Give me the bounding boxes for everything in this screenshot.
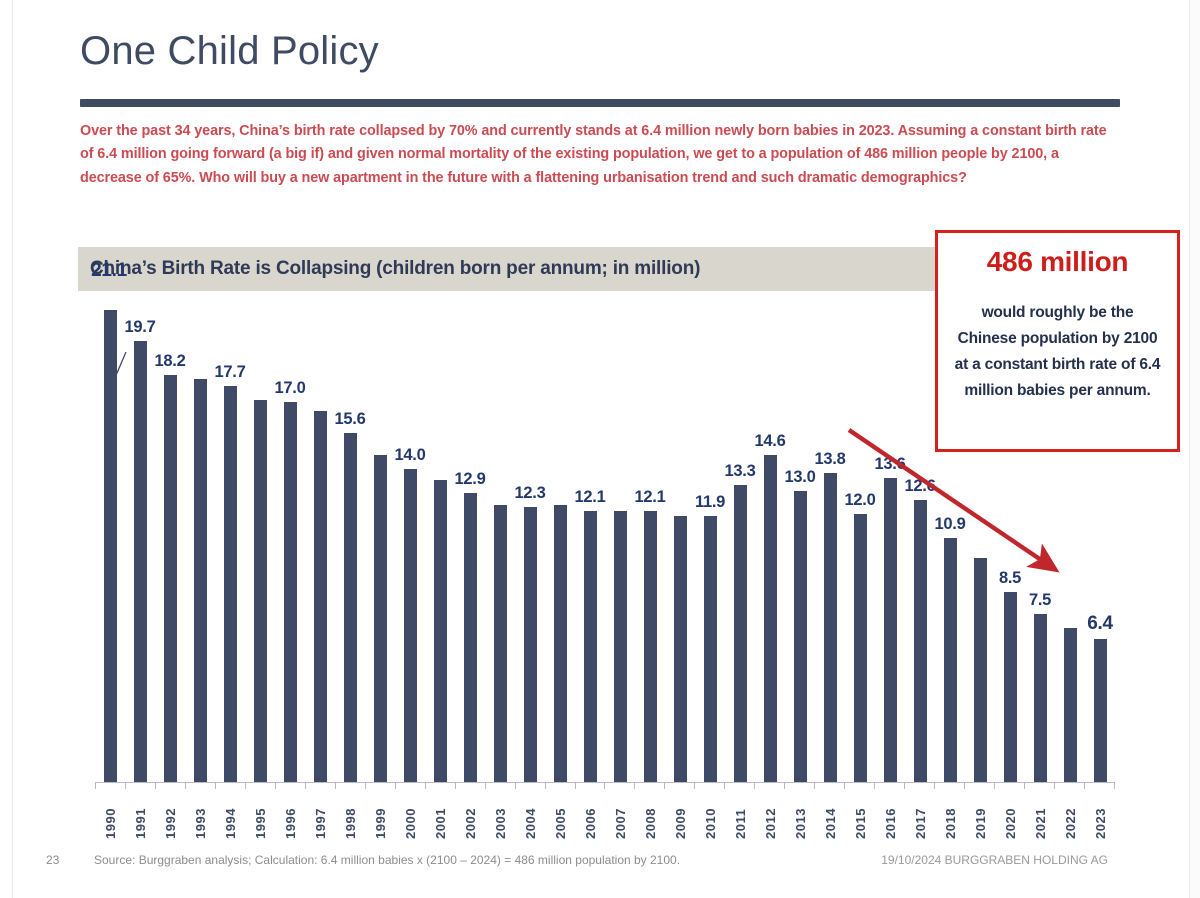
x-tick (814, 782, 844, 789)
slide-left-edge (0, 0, 13, 898)
bar-slot (1055, 310, 1085, 782)
bar-slot: 12.1 (575, 310, 605, 782)
bar-2011: 13.3 (734, 485, 747, 783)
x-label-2007: 2007 (613, 791, 628, 839)
x-tick (844, 782, 874, 789)
x-tick (545, 782, 575, 789)
x-label-2018: 2018 (943, 791, 958, 839)
bar-2003 (494, 505, 507, 782)
x-label-cell: 1994 (215, 791, 245, 839)
bar-slot: 19.7 (125, 310, 155, 782)
x-label-cell: 2004 (515, 791, 545, 839)
x-label-cell: 2022 (1055, 791, 1085, 839)
bar-slot (545, 310, 575, 782)
bar-slot: 12.0 (845, 310, 875, 782)
bar-value-label-2011: 13.3 (725, 462, 756, 481)
x-label-cell: 2015 (845, 791, 875, 839)
footer-date-company: 19/10/2024 BURGGRABEN HOLDING AG (881, 853, 1108, 867)
x-label-2019: 2019 (973, 791, 988, 839)
bar-2002: 12.9 (464, 493, 477, 782)
bar-slot: 12.1 (635, 310, 665, 782)
bar-2012: 14.6 (764, 455, 777, 782)
x-label-2006: 2006 (583, 791, 598, 839)
x-tick (455, 782, 485, 789)
x-tick (904, 782, 934, 789)
bar-slot: 15.6 (335, 310, 365, 782)
bar-1994: 17.7 (224, 386, 237, 782)
bar-slot: 14.0 (395, 310, 425, 782)
bar-value-label-2014: 13.8 (815, 450, 846, 469)
x-tick (335, 782, 365, 789)
bar-value-label-2002: 12.9 (455, 470, 486, 489)
bar-slot: 14.6 (755, 310, 785, 782)
x-tick (245, 782, 275, 789)
x-tick (485, 782, 515, 789)
bar-slot: 17.7 (215, 310, 245, 782)
x-label-cell: 2023 (1085, 791, 1115, 839)
x-axis-ticks (95, 782, 1115, 789)
x-label-1995: 1995 (253, 791, 268, 839)
title-divider (80, 99, 1120, 107)
bar-2022 (1064, 628, 1077, 782)
x-label-1998: 1998 (343, 791, 358, 839)
bar-2017: 12.6 (914, 500, 927, 782)
bar-slot (665, 310, 695, 782)
x-label-2001: 2001 (433, 791, 448, 839)
bar-2000: 14.0 (404, 469, 417, 782)
bar-slot (965, 310, 995, 782)
bar-value-label-1990: 21.1 (91, 260, 127, 282)
x-label-cell: 2016 (875, 791, 905, 839)
x-label-cell: 2000 (395, 791, 425, 839)
x-tick (634, 782, 664, 789)
x-tick (964, 782, 994, 789)
x-tick (994, 782, 1024, 789)
x-label-cell: 1997 (305, 791, 335, 839)
x-label-cell: 2010 (695, 791, 725, 839)
x-label-2004: 2004 (523, 791, 538, 839)
bar-series: 21.119.718.217.717.015.614.012.912.312.1… (95, 310, 1115, 782)
x-label-cell: 2009 (665, 791, 695, 839)
x-tick (724, 782, 754, 789)
bar-2023: 6.4 (1094, 639, 1107, 782)
bar-value-label-2004: 12.3 (515, 484, 546, 503)
x-label-cell: 1990 (95, 791, 125, 839)
x-label-cell: 2011 (725, 791, 755, 839)
page-title: One Child Policy (80, 28, 379, 74)
x-tick (365, 782, 395, 789)
x-tick (694, 782, 724, 789)
callout-headline: 486 million (952, 247, 1163, 278)
x-tick (874, 782, 904, 789)
x-label-cell: 2006 (575, 791, 605, 839)
x-tick (754, 782, 784, 789)
x-tick (95, 782, 125, 789)
bar-value-label-2012: 14.6 (755, 432, 786, 451)
x-label-2000: 2000 (403, 791, 418, 839)
bar-value-label-1992: 18.2 (155, 352, 186, 371)
x-label-cell: 2007 (605, 791, 635, 839)
x-label-1996: 1996 (283, 791, 298, 839)
x-label-cell: 2002 (455, 791, 485, 839)
bar-slot (245, 310, 275, 782)
x-label-2020: 2020 (1003, 791, 1018, 839)
lead-paragraph: Over the past 34 years, China’s birth ra… (80, 120, 1115, 190)
bar-slot (425, 310, 455, 782)
x-tick (575, 782, 605, 789)
x-label-cell: 2008 (635, 791, 665, 839)
bar-value-label-1996: 17.0 (275, 379, 306, 398)
x-label-cell: 2014 (815, 791, 845, 839)
bar-slot: 12.6 (905, 310, 935, 782)
footer-page-number: 23 (46, 853, 59, 867)
bar-2009 (674, 516, 687, 782)
x-label-2023: 2023 (1093, 791, 1108, 839)
bar-value-label-2018: 10.9 (935, 515, 966, 534)
x-tick (185, 782, 215, 789)
bar-2016: 13.6 (884, 478, 897, 782)
x-label-1999: 1999 (373, 791, 388, 839)
x-label-cell: 2013 (785, 791, 815, 839)
bar-1998: 15.6 (344, 433, 357, 782)
bar-slot: 13.6 (875, 310, 905, 782)
bar-slot: 12.9 (455, 310, 485, 782)
bar-slot: 6.4 (1085, 310, 1115, 782)
x-tick (155, 782, 185, 789)
bar-2007 (614, 511, 627, 782)
x-label-2015: 2015 (853, 791, 868, 839)
bar-2004: 12.3 (524, 507, 537, 782)
bar-slot (185, 310, 215, 782)
x-tick (1054, 782, 1084, 789)
bar-value-label-2010: 11.9 (695, 493, 725, 512)
x-label-1991: 1991 (133, 791, 148, 839)
bar-slot: 17.0 (275, 310, 305, 782)
bar-2015: 12.0 (854, 514, 867, 782)
x-tick (784, 782, 814, 789)
x-label-cell: 2020 (995, 791, 1025, 839)
bar-value-label-2023: 6.4 (1087, 613, 1113, 635)
bar-slot (365, 310, 395, 782)
x-tick-end (1114, 782, 1115, 789)
x-label-1990: 1990 (103, 791, 118, 839)
bar-value-label-2016: 13.6 (875, 455, 906, 474)
bar-value-label-2017: 12.6 (905, 477, 936, 496)
x-label-2008: 2008 (643, 791, 658, 839)
bar-slot (305, 310, 335, 782)
bar-1992: 18.2 (164, 375, 177, 782)
x-label-cell: 2017 (905, 791, 935, 839)
x-tick (125, 782, 155, 789)
bar-value-label-2020: 8.5 (999, 569, 1021, 588)
bar-2021: 7.5 (1034, 614, 1047, 782)
x-label-cell: 1999 (365, 791, 395, 839)
bar-1990: 21.1 (104, 310, 117, 782)
chart-title: China’s Birth Rate is Collapsing (childr… (78, 258, 700, 280)
x-tick (215, 782, 245, 789)
bar-2008: 12.1 (644, 511, 657, 782)
chart-title-banner: China’s Birth Rate is Collapsing (childr… (78, 247, 938, 291)
bar-slot: 18.2 (155, 310, 185, 782)
chart-plot-area: 21.119.718.217.717.015.614.012.912.312.1… (95, 310, 1115, 782)
x-label-2016: 2016 (883, 791, 898, 839)
x-label-cell: 2018 (935, 791, 965, 839)
x-label-cell: 2003 (485, 791, 515, 839)
x-label-cell: 2019 (965, 791, 995, 839)
footer-source-note: Source: Burggraben analysis; Calculation… (94, 853, 680, 867)
bar-value-label-1998: 15.6 (335, 410, 366, 429)
bar-2020: 8.5 (1004, 592, 1017, 782)
bar-2018: 10.9 (944, 538, 957, 782)
x-axis-labels: 1990199119921993199419951996199719981999… (95, 791, 1115, 839)
bar-slot: 21.1 (95, 310, 125, 782)
bar-slot (605, 310, 635, 782)
x-label-cell: 1996 (275, 791, 305, 839)
bar-1993 (194, 379, 207, 782)
x-label-2005: 2005 (553, 791, 568, 839)
x-tick (664, 782, 694, 789)
x-label-1992: 1992 (163, 791, 178, 839)
x-label-2021: 2021 (1033, 791, 1048, 839)
x-tick (275, 782, 305, 789)
x-label-2010: 2010 (703, 791, 718, 839)
x-label-cell: 1995 (245, 791, 275, 839)
bar-value-label-2013: 13.0 (785, 468, 816, 487)
x-label-2017: 2017 (913, 791, 928, 839)
bar-slot: 12.3 (515, 310, 545, 782)
bar-slot: 8.5 (995, 310, 1025, 782)
bar-2013: 13.0 (794, 491, 807, 782)
bar-slot: 13.3 (725, 310, 755, 782)
x-label-cell: 2001 (425, 791, 455, 839)
bar-slot: 13.0 (785, 310, 815, 782)
bar-1999 (374, 455, 387, 782)
bar-1995 (254, 400, 267, 783)
x-label-cell: 2021 (1025, 791, 1055, 839)
bar-2006: 12.1 (584, 511, 597, 782)
x-tick (604, 782, 634, 789)
bar-1991: 19.7 (134, 341, 147, 782)
bar-slot (485, 310, 515, 782)
x-tick (515, 782, 545, 789)
bar-slot: 13.8 (815, 310, 845, 782)
bar-1996: 17.0 (284, 402, 297, 782)
bar-value-label-2015: 12.0 (845, 491, 876, 510)
x-label-2011: 2011 (733, 791, 748, 839)
slide-right-edge (1189, 0, 1200, 898)
x-tick (934, 782, 964, 789)
bar-value-label-2021: 7.5 (1029, 591, 1051, 610)
bar-value-label-1994: 17.7 (215, 363, 246, 382)
x-tick (1084, 782, 1114, 789)
x-label-cell: 1991 (125, 791, 155, 839)
bar-value-label-2000: 14.0 (395, 446, 426, 465)
bar-1997 (314, 411, 327, 782)
bar-2001 (434, 480, 447, 782)
x-label-2013: 2013 (793, 791, 808, 839)
x-label-2009: 2009 (673, 791, 688, 839)
x-label-cell: 2005 (545, 791, 575, 839)
slide-one-child-policy: One Child Policy Over the past 34 years,… (0, 0, 1200, 898)
x-label-cell: 1992 (155, 791, 185, 839)
x-tick (1024, 782, 1054, 789)
x-tick (425, 782, 455, 789)
bar-2014: 13.8 (824, 473, 837, 782)
x-label-cell: 2012 (755, 791, 785, 839)
x-label-2003: 2003 (493, 791, 508, 839)
x-label-2012: 2012 (763, 791, 778, 839)
bar-value-label-1991: 19.7 (125, 318, 156, 337)
x-label-cell: 1993 (185, 791, 215, 839)
bar-value-label-2008: 12.1 (635, 488, 666, 507)
bar-slot: 10.9 (935, 310, 965, 782)
x-label-2014: 2014 (823, 791, 838, 839)
x-label-2002: 2002 (463, 791, 478, 839)
bar-value-label-2006: 12.1 (575, 488, 606, 507)
x-label-1993: 1993 (193, 791, 208, 839)
bar-2010: 11.9 (704, 516, 717, 782)
bar-slot: 11.9 (695, 310, 725, 782)
x-tick (395, 782, 425, 789)
x-tick (305, 782, 335, 789)
x-label-1997: 1997 (313, 791, 328, 839)
x-label-1994: 1994 (223, 791, 238, 839)
x-label-cell: 1998 (335, 791, 365, 839)
bar-2005 (554, 505, 567, 782)
bar-slot: 7.5 (1025, 310, 1055, 782)
bar-2019 (974, 558, 987, 782)
x-label-2022: 2022 (1063, 791, 1078, 839)
